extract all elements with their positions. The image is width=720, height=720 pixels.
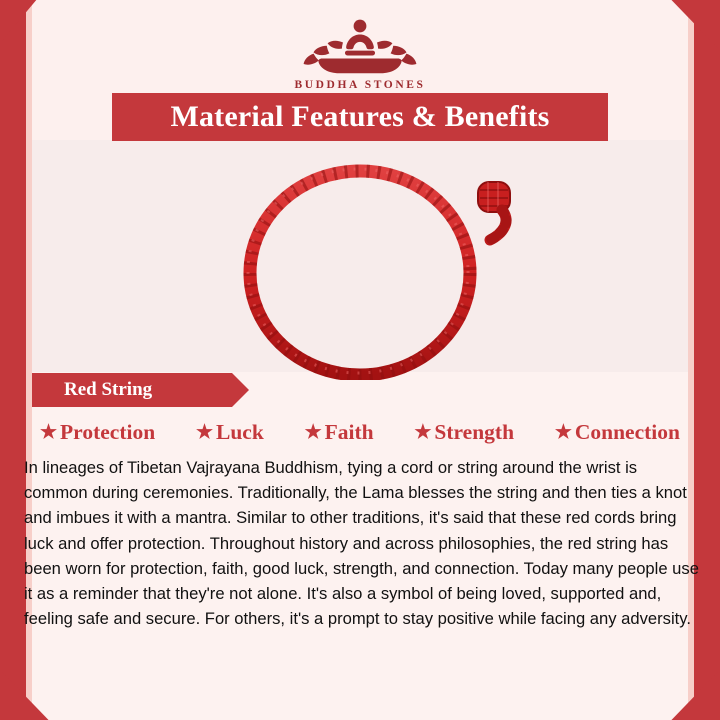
star-icon: ★ xyxy=(40,423,57,442)
product-tag-label: Red String xyxy=(64,379,152,401)
benefit-keywords: ★ Protection ★ Luck ★ Faith ★ Strength ★… xyxy=(40,420,680,445)
keyword-luck: ★ Luck xyxy=(196,420,264,445)
keyword-label: Strength xyxy=(434,420,514,445)
infographic-page: BUDDHA STONES Material Features & Benefi… xyxy=(0,0,720,720)
keyword-label: Connection xyxy=(575,420,680,445)
product-image xyxy=(32,148,688,380)
product-tag: Red String xyxy=(32,373,232,407)
keyword-faith: ★ Faith xyxy=(305,420,374,445)
keyword-label: Faith xyxy=(325,420,374,445)
lotus-meditation-icon xyxy=(302,14,418,76)
brand-name: BUDDHA STONES xyxy=(0,79,720,91)
star-icon: ★ xyxy=(305,423,322,442)
keyword-strength: ★ Strength xyxy=(414,420,514,445)
keyword-label: Protection xyxy=(60,420,155,445)
left-border-band xyxy=(0,0,26,720)
page-title-bar: Material Features & Benefits xyxy=(112,93,608,141)
brand-logo: BUDDHA STONES xyxy=(0,14,720,91)
star-icon: ★ xyxy=(555,423,572,442)
red-string-bracelet-illustration xyxy=(32,148,688,380)
keyword-connection: ★ Connection xyxy=(555,420,680,445)
description-text: In lineages of Tibetan Vajrayana Buddhis… xyxy=(24,455,702,631)
star-icon: ★ xyxy=(196,423,213,442)
keyword-label: Luck xyxy=(216,420,264,445)
keyword-protection: ★ Protection xyxy=(40,420,155,445)
page-title: Material Features & Benefits xyxy=(170,100,549,134)
star-icon: ★ xyxy=(414,423,431,442)
